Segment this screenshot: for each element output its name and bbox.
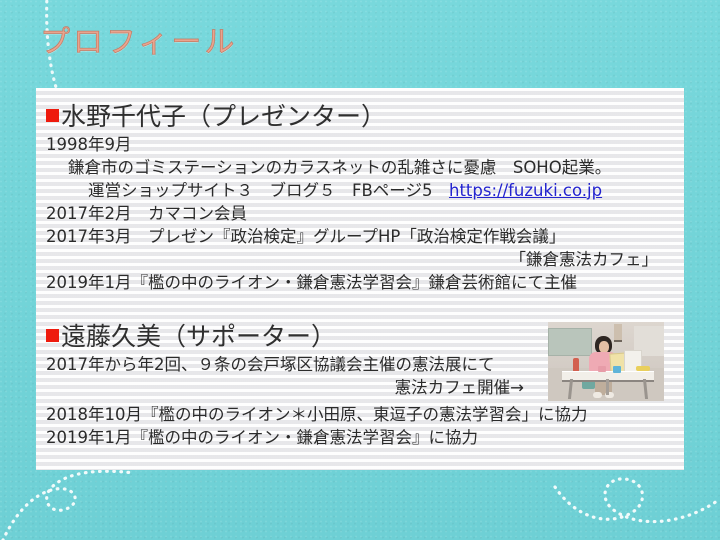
red-square-bullet-icon xyxy=(46,109,59,122)
presenter-line-3: 運営ショップサイト３ ブログ５ FBページ5 https://fuzuki.co… xyxy=(46,179,676,202)
supporter-line-3: 2018年10月『檻の中のライオン＊小田原、東逗子の憲法学習会」に協力 xyxy=(46,403,676,426)
supporter-line-4: 2019年1月『檻の中のライオン・鎌倉憲法学習会』に協力 xyxy=(46,426,676,449)
constitution-cafe-photo xyxy=(548,322,664,401)
presenter-line-7: 2019年1月『檻の中のライオン・鎌倉憲法学習会』鎌倉芸術館にて主催 xyxy=(46,271,676,294)
presenter-line-3-text: 運営ショップサイト３ ブログ５ FBページ5 xyxy=(88,181,449,200)
presenter-line-2: 鎌倉市のゴミステーションのカラスネットの乱雑さに憂慮 SOHO起業。 xyxy=(46,156,676,179)
photo-chalkboard xyxy=(548,328,592,356)
photo-bottle xyxy=(573,358,579,372)
photo-cup xyxy=(613,366,621,373)
presenter-heading-text: 水野千代子（プレゼンター） xyxy=(61,102,386,131)
photo-yellow-object xyxy=(636,366,650,371)
photo-pink-object xyxy=(598,366,606,372)
red-square-bullet-icon xyxy=(46,329,59,342)
photo-person-shoe-left xyxy=(593,392,602,398)
presenter-line-1: 1998年9月 xyxy=(46,133,676,156)
slide-canvas: プロフィール 水野千代子（プレゼンター） 1998年9月 鎌倉市のゴミステーショ… xyxy=(0,0,720,540)
supporter-heading-text: 遠藤久美（サポーター） xyxy=(61,322,336,351)
presenter-heading: 水野千代子（プレゼンター） xyxy=(46,102,676,132)
page-title: プロフィール xyxy=(40,26,237,61)
content-panel: 水野千代子（プレゼンター） 1998年9月 鎌倉市のゴミステーションのカラスネッ… xyxy=(36,88,684,470)
photo-table-leg-center xyxy=(606,379,609,395)
photo-table-leg-right xyxy=(643,379,648,399)
presenter-line-6: 「鎌倉憲法カフェ」 xyxy=(46,248,676,271)
presenter-line-5: 2017年3月 プレゼン『政治検定』グループHP「政治検定作戦会議」 xyxy=(46,225,676,248)
photo-table-leg-left xyxy=(568,379,573,399)
photo-illustration xyxy=(548,322,664,401)
section-presenter: 水野千代子（プレゼンター） 1998年9月 鎌倉市のゴミステーションのカラスネッ… xyxy=(46,102,676,294)
dotted-curve-bottom-right xyxy=(545,465,720,540)
presenter-line-4: 2017年2月 カマコン会員 xyxy=(46,202,676,225)
photo-hanging-sign xyxy=(614,324,622,342)
fuzuki-website-link[interactable]: https://fuzuki.co.jp xyxy=(449,181,602,200)
